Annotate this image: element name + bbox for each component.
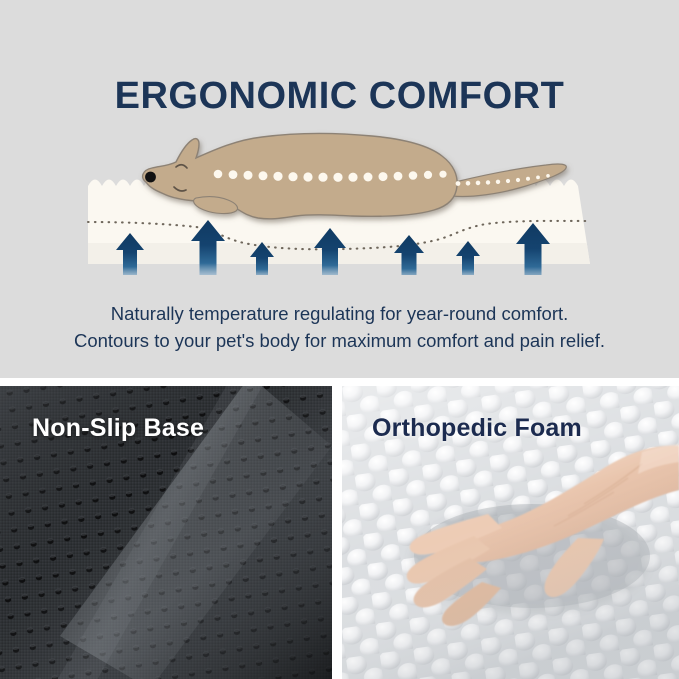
panel-caption-non-slip-base: Non-Slip Base <box>32 414 204 443</box>
product-infographic: ERGONOMIC COMFORT <box>0 0 679 679</box>
hero-copy-line-2: Contours to your pet's body for maximum … <box>0 327 679 354</box>
panel-caption-orthopedic-foam: Orthopedic Foam <box>372 414 582 443</box>
panel-orthopedic-foam: Orthopedic Foam <box>342 386 679 679</box>
ergonomic-comfort-hero-panel: ERGONOMIC COMFORT <box>0 0 679 378</box>
hero-description: Naturally temperature regulating for yea… <box>0 300 679 354</box>
dog-nose <box>145 172 156 183</box>
hero-copy-line-1: Naturally temperature regulating for yea… <box>0 300 679 327</box>
dog-on-foam-diagram <box>0 110 679 275</box>
panel-non-slip-base: Non-Slip Base <box>0 386 332 679</box>
